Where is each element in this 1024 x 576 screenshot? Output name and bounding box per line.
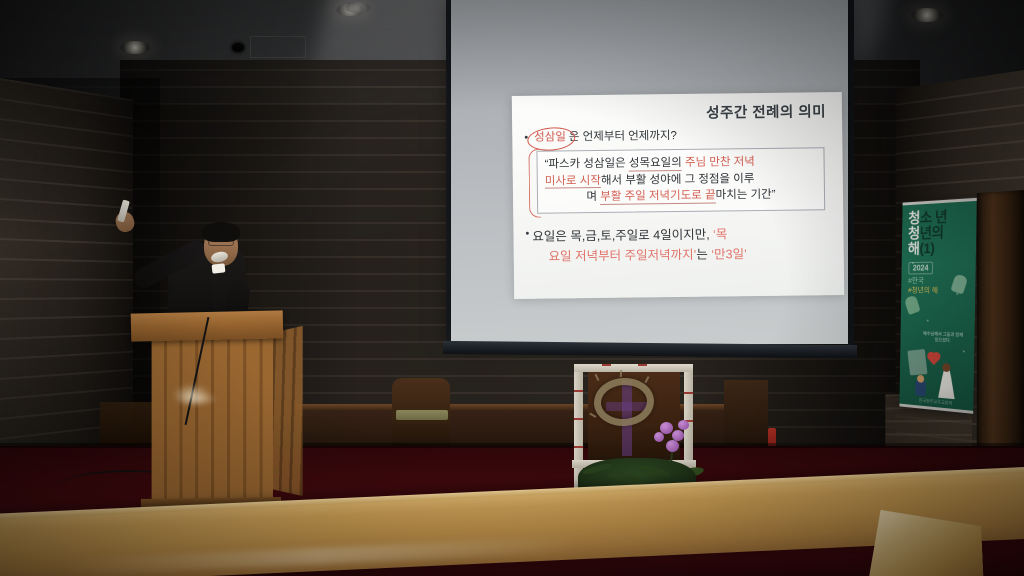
podium-body (152, 336, 273, 504)
orchid-bloom-icon (678, 420, 689, 430)
jesus-head-icon (942, 363, 950, 372)
screen-right-edge (847, 0, 854, 346)
quote-l1-underline: 성목요일의 (629, 157, 682, 171)
projection-screen: 성주간 전례의 의미 • 성삼일은 언제부터 언제까지? “파스카 성삼일은 성… (451, 0, 848, 344)
bamboo-frame-top-bar (574, 364, 693, 372)
b2-l2-pink-b: ‘만3일’ (711, 247, 747, 261)
podium-highlight (176, 392, 218, 406)
quote-l3-a: 며 (586, 191, 600, 203)
banner-tag-2: #청년의 해 (908, 286, 975, 296)
roman-collar (212, 263, 226, 273)
banner-line-3: 해(1) (908, 240, 971, 257)
heart-icon (928, 353, 939, 365)
ceiling-hatch (250, 36, 306, 58)
chair-cushion (396, 410, 448, 420)
quote-l1-red: 주님 만찬 저녁 (682, 156, 755, 169)
downlight-icon (911, 8, 943, 22)
b2-l2-pink-a: 요일 저녁부터 주일저녁까지’ (549, 247, 697, 263)
b2-l1-pink: ‘목 (713, 227, 727, 241)
slide-title: 성주간 전례의 의미 (522, 100, 830, 125)
glasses-icon (208, 240, 234, 246)
red-bracket-annotation (528, 149, 541, 218)
slide-bullet-2: • 요일은 목,금,토,주일로 4일이지만, ‘목 요일 저녁부터 주일저녁까지… (525, 223, 831, 267)
ceiling-vent-icon (232, 43, 244, 52)
banner-footer: 한국천주교주교회의 (899, 396, 973, 409)
downlight-icon (120, 41, 150, 54)
orchid-bloom-icon (666, 440, 679, 452)
presentation-slide: 성주간 전례의 의미 • 성삼일은 언제부터 언제까지? “파스카 성삼일은 성… (512, 92, 844, 299)
bullet-marker-icon: • (525, 226, 529, 241)
bullet-2-line-1: 요일은 목,금,토,주일로 4일이지만, ‘목 (532, 224, 746, 247)
quote-l3-b: 마치는 기간” (716, 189, 776, 202)
quote-box: “파스카 성삼일은 성목요일의 주님 만찬 저녁 미사로 시작해서 부활 성야에… (536, 147, 825, 213)
banner-title: 청소 년 청년의 해(1) (902, 201, 977, 258)
quote-l2-plain: 해서 부활 성야에 그 정점을 이루 (601, 173, 755, 187)
b2-l1-plain: 요일은 목,금,토,주일로 4일이지만, (532, 227, 713, 243)
b2-l2-plain: 는 (696, 247, 711, 261)
bullet-1-text: 성삼일은 언제부터 언제까지? (531, 129, 677, 146)
speaker-hair (202, 222, 240, 242)
child-head-icon (917, 375, 924, 383)
quote-line-3: 며 부활 주일 저녁기도로 끝마치는 기간” (545, 186, 817, 206)
quote-l3-red: 부활 주일 저녁기도로 끝 (600, 190, 716, 205)
banner-caption: 예수님께서 그들과 함께 있으셨다. (923, 331, 963, 344)
banner-l2-dark: 년의 (920, 224, 944, 241)
banner-l3-paren: (1) (919, 240, 934, 257)
bullet-1-rest: 은 언제부터 언제까지? (569, 130, 677, 143)
quote-l1-a: “파스카 성삼일은 (545, 158, 629, 171)
circled-term: 성삼일 (531, 130, 569, 145)
banner-card-shape (907, 349, 927, 375)
banner-l1-white: 청 (908, 210, 920, 227)
child-figure-icon (915, 380, 926, 396)
slide-bullet-1: • 성삼일은 언제부터 언제까지? (524, 127, 830, 146)
banner-l3-white: 해 (908, 241, 920, 258)
quote-l2-red: 미사로 시작 (545, 174, 601, 188)
orchid-bloom-icon (654, 432, 664, 442)
bullet-2-line-2: 요일 저녁부터 주일저녁까지’는 ‘만3일’ (532, 244, 746, 267)
church-presentation-scene: 성주간 전례의 의미 • 성삼일은 언제부터 언제까지? “파스카 성삼일은 성… (0, 0, 1024, 576)
banner-illustration: 예수님께서 그들과 함께 있으셨다. 한국천주교주교회의 (899, 300, 975, 411)
banner-l2-white: 청 (908, 225, 920, 242)
bullet-2-body: 요일은 목,금,토,주일로 4일이지만, ‘목 요일 저녁부터 주일저녁까지’는… (532, 224, 747, 267)
jesus-figure-icon (938, 369, 955, 400)
youth-year-banner: 청소 년 청년의 해(1) 2024 #한국 #청년의 해 예수님께서 그들과 … (899, 198, 976, 414)
downlight-icon (345, 2, 371, 13)
